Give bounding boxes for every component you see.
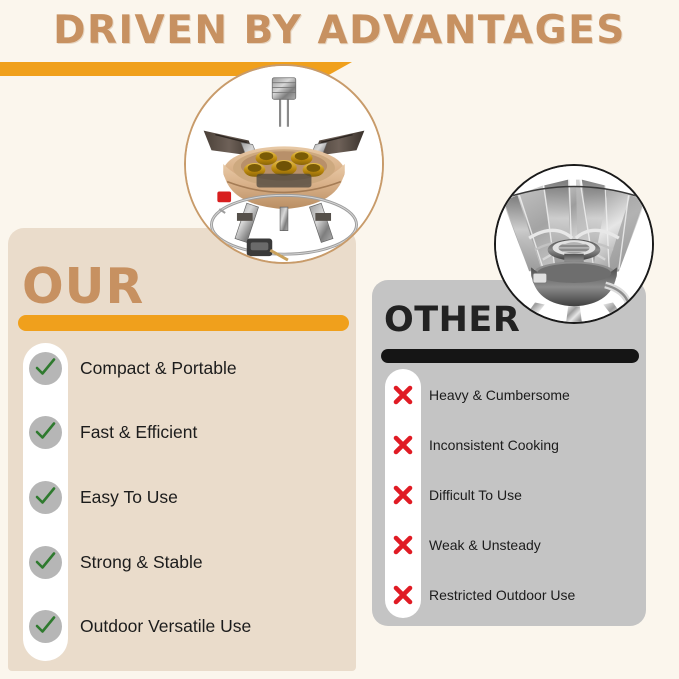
check-icon: [23, 546, 68, 579]
copper-stove-illustration: [186, 66, 382, 262]
list-item: Compact & Portable: [23, 344, 343, 392]
list-item: Inconsistent Cooking: [385, 425, 635, 465]
list-item: Outdoor Versatile Use: [23, 602, 343, 650]
list-item-label: Compact & Portable: [80, 358, 237, 379]
our-product-photo: [184, 64, 384, 264]
cross-icon: [385, 434, 421, 456]
cross-icon: [385, 384, 421, 406]
list-item: Difficult To Use: [385, 475, 635, 515]
list-item-label: Outdoor Versatile Use: [80, 616, 251, 637]
list-item-label: Restricted Outdoor Use: [429, 587, 575, 603]
other-product-photo: [494, 164, 654, 324]
check-icon: [23, 610, 68, 643]
list-item-label: Weak & Unsteady: [429, 537, 541, 553]
check-icon: [23, 352, 68, 385]
list-item-label: Difficult To Use: [429, 487, 522, 503]
list-item-label: Fast & Efficient: [80, 422, 197, 443]
check-icon: [23, 481, 68, 514]
chrome-stove-illustration: [496, 166, 652, 322]
list-item: Easy To Use: [23, 473, 343, 521]
cross-icon: [385, 584, 421, 606]
list-item: Strong & Stable: [23, 538, 343, 586]
our-heading: OUR: [22, 258, 144, 315]
list-item-label: Easy To Use: [80, 487, 178, 508]
check-icon: [23, 416, 68, 449]
our-heading-accent-bar: [18, 315, 349, 331]
cross-icon: [385, 534, 421, 556]
list-item: Fast & Efficient: [23, 408, 343, 456]
infographic-canvas: DRIVEN BY ADVANTAGES OUR: [0, 0, 679, 679]
cross-icon: [385, 484, 421, 506]
other-heading: OTHER: [384, 300, 520, 340]
list-item: Restricted Outdoor Use: [385, 575, 635, 615]
other-heading-accent-bar: [381, 349, 639, 363]
list-item: Heavy & Cumbersome: [385, 375, 635, 415]
list-item-label: Strong & Stable: [80, 552, 203, 573]
list-item-label: Inconsistent Cooking: [429, 437, 559, 453]
page-title: DRIVEN BY ADVANTAGES: [0, 8, 679, 53]
list-item-label: Heavy & Cumbersome: [429, 387, 570, 403]
list-item: Weak & Unsteady: [385, 525, 635, 565]
